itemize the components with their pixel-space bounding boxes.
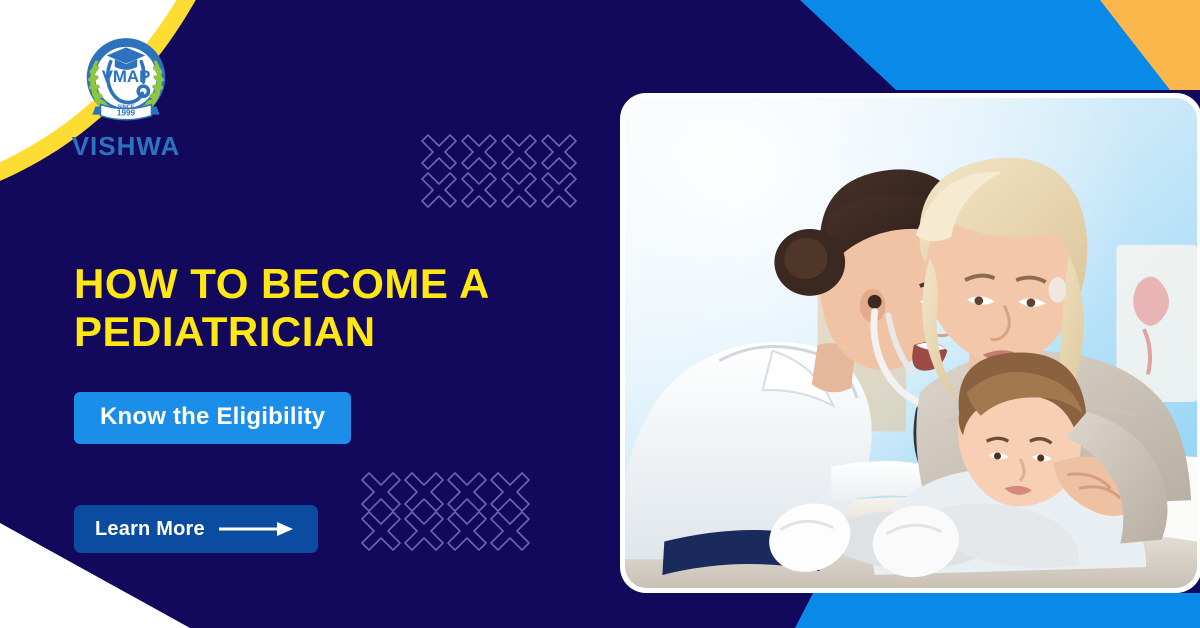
- logo-emblem: VMAP SINCE 1999: [75, 30, 177, 132]
- learn-more-button[interactable]: Learn More: [74, 505, 318, 553]
- long-arrow-right-icon: [219, 521, 295, 537]
- x-pattern-bottom-decoration: [360, 472, 532, 552]
- banner-root: VMAP SINCE 1999 VISHWA HOW TO BECOME A P…: [0, 0, 1200, 628]
- hero-photo: [625, 98, 1197, 588]
- brand-name-text: VISHWA: [72, 133, 181, 159]
- vmap-emblem-icon: VMAP SINCE 1999: [75, 30, 177, 132]
- brand-logo[interactable]: VMAP SINCE 1999 VISHWA: [62, 30, 190, 160]
- logo-year-text: 1999: [117, 109, 136, 118]
- x-pattern-top-decoration: [420, 133, 580, 209]
- know-eligibility-button[interactable]: Know the Eligibility: [74, 392, 351, 444]
- headline-line-2: PEDIATRICIAN: [74, 308, 594, 356]
- learn-more-label: Learn More: [95, 518, 205, 541]
- bottom-right-blue-bar: [795, 593, 1200, 628]
- hero-photo-card: [620, 93, 1200, 593]
- page-title: HOW TO BECOME A PEDIATRICIAN: [74, 260, 594, 356]
- pediatrician-exam-illustration: [625, 98, 1197, 588]
- logo-monogram-text: VMAP: [102, 67, 151, 86]
- headline-line-1: HOW TO BECOME A: [74, 260, 594, 308]
